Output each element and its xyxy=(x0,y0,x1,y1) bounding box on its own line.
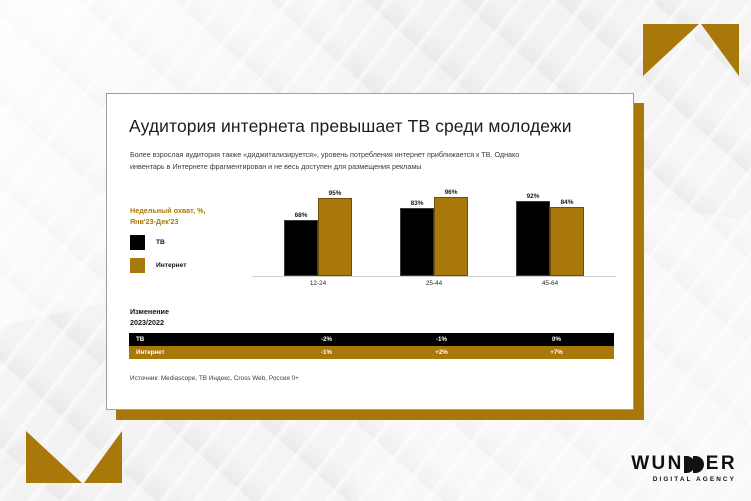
bar-value-tv-25-44: 83% xyxy=(400,200,434,207)
source-note: Источник: Mediascope, ТВ Индекс, Cross W… xyxy=(130,375,299,382)
brand-mark-bottom-left-icon xyxy=(26,431,122,483)
bar-wrap-internet-12-24: 95% xyxy=(318,194,352,276)
category-label-45-64: 45-64 xyxy=(506,280,594,287)
legend-item-internet: Интернет xyxy=(130,258,250,273)
table-cell-internet-25-44: +2% xyxy=(384,349,499,356)
bar-wrap-tv-45-64: 92% xyxy=(516,194,550,276)
bar-wrap-internet-45-64: 84% xyxy=(550,194,584,276)
page-title: Аудитория интернета превышает ТВ среди м… xyxy=(129,116,572,137)
table-cell-tv-25-44: -1% xyxy=(384,336,499,343)
bar-internet-12-24 xyxy=(318,198,352,276)
table-cell-internet-12-24: -1% xyxy=(269,349,384,356)
table-row: Интернет -1% +2% +7% xyxy=(129,346,614,359)
chart-plot-area: 68% 95% 12-24 83% xyxy=(252,194,616,277)
logo-tagline: DIGITAL AGENCY xyxy=(631,476,736,483)
bar-tv-12-24 xyxy=(284,220,318,276)
bar-value-internet-45-64: 84% xyxy=(550,199,584,206)
slide-card: Аудитория интернета превышает ТВ среди м… xyxy=(106,93,634,410)
legend-item-tv: ТВ xyxy=(130,235,250,250)
bar-value-tv-12-24: 68% xyxy=(284,212,318,219)
table-cell-tv-12-24: -2% xyxy=(269,336,384,343)
page-subtitle: Более взрослая аудитория также «диджитал… xyxy=(130,149,550,172)
table-row-label-tv: ТВ xyxy=(129,336,269,343)
logo-word-left: WUN xyxy=(631,454,684,474)
slide-canvas: Аудитория интернета превышает ТВ среди м… xyxy=(0,0,751,501)
logo-wordmark: WUN ER xyxy=(631,454,737,474)
bar-internet-45-64 xyxy=(550,207,584,276)
change-table: ТВ -2% -1% 0% Интернет -1% +2% +7% xyxy=(129,333,614,359)
bar-tv-45-64 xyxy=(516,201,550,276)
bar-group-25-44: 83% 96% xyxy=(390,194,478,276)
category-label-25-44: 25-44 xyxy=(390,280,478,287)
legend-swatch-tv-icon xyxy=(130,235,145,250)
legend-label-tv: ТВ xyxy=(156,239,165,246)
table-row-label-internet: Интернет xyxy=(129,349,269,356)
legend-title: Недельный охват, %, Янв'23-Дек'23 xyxy=(130,206,250,227)
table-cell-tv-45-64: 0% xyxy=(499,336,614,343)
bar-value-tv-45-64: 92% xyxy=(516,193,550,200)
change-table-heading: Изменение 2023/2022 xyxy=(130,307,169,328)
bar-group-45-64: 92% 84% xyxy=(506,194,594,276)
wunder-logo: WUN ER DIGITAL AGENCY xyxy=(631,454,737,483)
bar-internet-25-44 xyxy=(434,197,468,276)
logo-word-right: ER xyxy=(706,454,737,474)
legend-label-internet: Интернет xyxy=(156,262,186,269)
category-label-12-24: 12-24 xyxy=(274,280,362,287)
bar-wrap-internet-25-44: 96% xyxy=(434,194,468,276)
legend-swatch-internet-icon xyxy=(130,258,145,273)
chart-legend: Недельный охват, %, Янв'23-Дек'23 ТВ Инт… xyxy=(130,206,250,273)
logo-d-glyph-icon xyxy=(684,456,705,473)
bar-tv-25-44 xyxy=(400,208,434,276)
bar-value-internet-25-44: 96% xyxy=(434,189,468,196)
table-row: ТВ -2% -1% 0% xyxy=(129,333,614,346)
bar-wrap-tv-25-44: 83% xyxy=(400,194,434,276)
bar-chart: 68% 95% 12-24 83% xyxy=(252,194,616,290)
bar-wrap-tv-12-24: 68% xyxy=(284,194,318,276)
bar-group-12-24: 68% 95% xyxy=(274,194,362,276)
brand-mark-top-right-icon xyxy=(643,24,739,76)
table-cell-internet-45-64: +7% xyxy=(499,349,614,356)
bar-value-internet-12-24: 95% xyxy=(318,190,352,197)
background-dot xyxy=(64,6,74,16)
